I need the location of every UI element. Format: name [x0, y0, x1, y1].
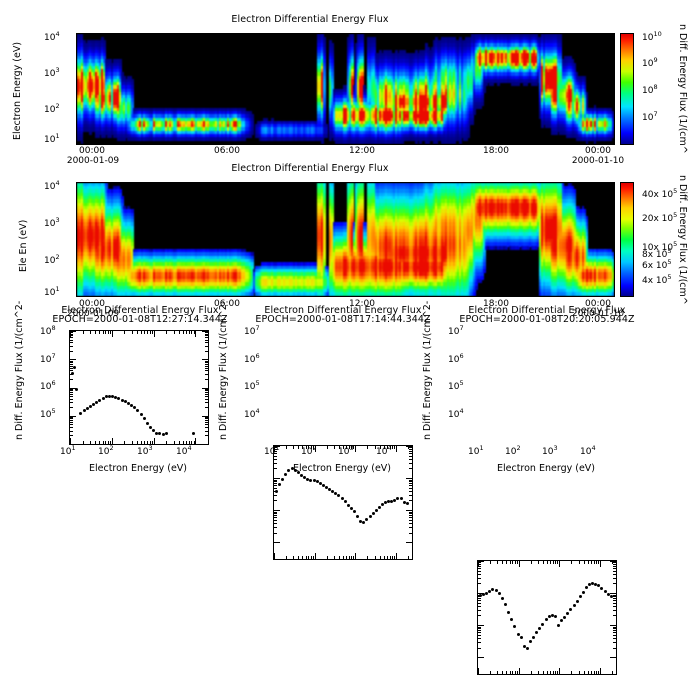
- panel1-cbtick-10e7: 107: [642, 113, 658, 123]
- panel1-xtick-3: 18:00: [466, 146, 526, 156]
- spectrogram-cell: [612, 134, 615, 138]
- panel1-xtick-1: 06:00: [197, 146, 257, 156]
- spectrogram-cell: [483, 89, 486, 93]
- panel1-ytick-10e3: 103: [44, 69, 60, 79]
- spectrogram-cell: [321, 140, 324, 144]
- panel1-xtick-2: 12:00: [332, 146, 392, 156]
- panel1-ytick-10e2: 102: [44, 105, 60, 115]
- spectrogram-cell: [471, 121, 474, 125]
- spectrogram-cell: [251, 131, 254, 135]
- panel1-cbtick-10e9: 109: [642, 59, 658, 69]
- panel1-xtick-4: 00:00: [568, 146, 628, 156]
- spectrogram-cell: [325, 134, 328, 138]
- panel1-ytick-10e1: 101: [44, 135, 60, 145]
- panel1-ytick-10e4: 104: [44, 33, 60, 43]
- panel1-cbtick-10e10: 1010: [642, 33, 662, 43]
- panel1-spectrogram: [76, 33, 615, 145]
- spectrogram-cell: [467, 134, 470, 138]
- spectrogram-cell: [81, 140, 84, 144]
- spectrogram-cell: [459, 140, 462, 144]
- panel1-title: Electron Differential Energy Flux: [0, 14, 620, 25]
- panel1-ylabel: Electron Energy (eV): [12, 42, 23, 140]
- panel1-colorbar: [620, 33, 634, 145]
- spectrogram-cell: [473, 111, 476, 115]
- panel1-cbtick-10e8: 108: [642, 86, 658, 96]
- spectrogram-cell: [481, 102, 484, 106]
- panel1-xtick-0: 00:00: [62, 146, 122, 156]
